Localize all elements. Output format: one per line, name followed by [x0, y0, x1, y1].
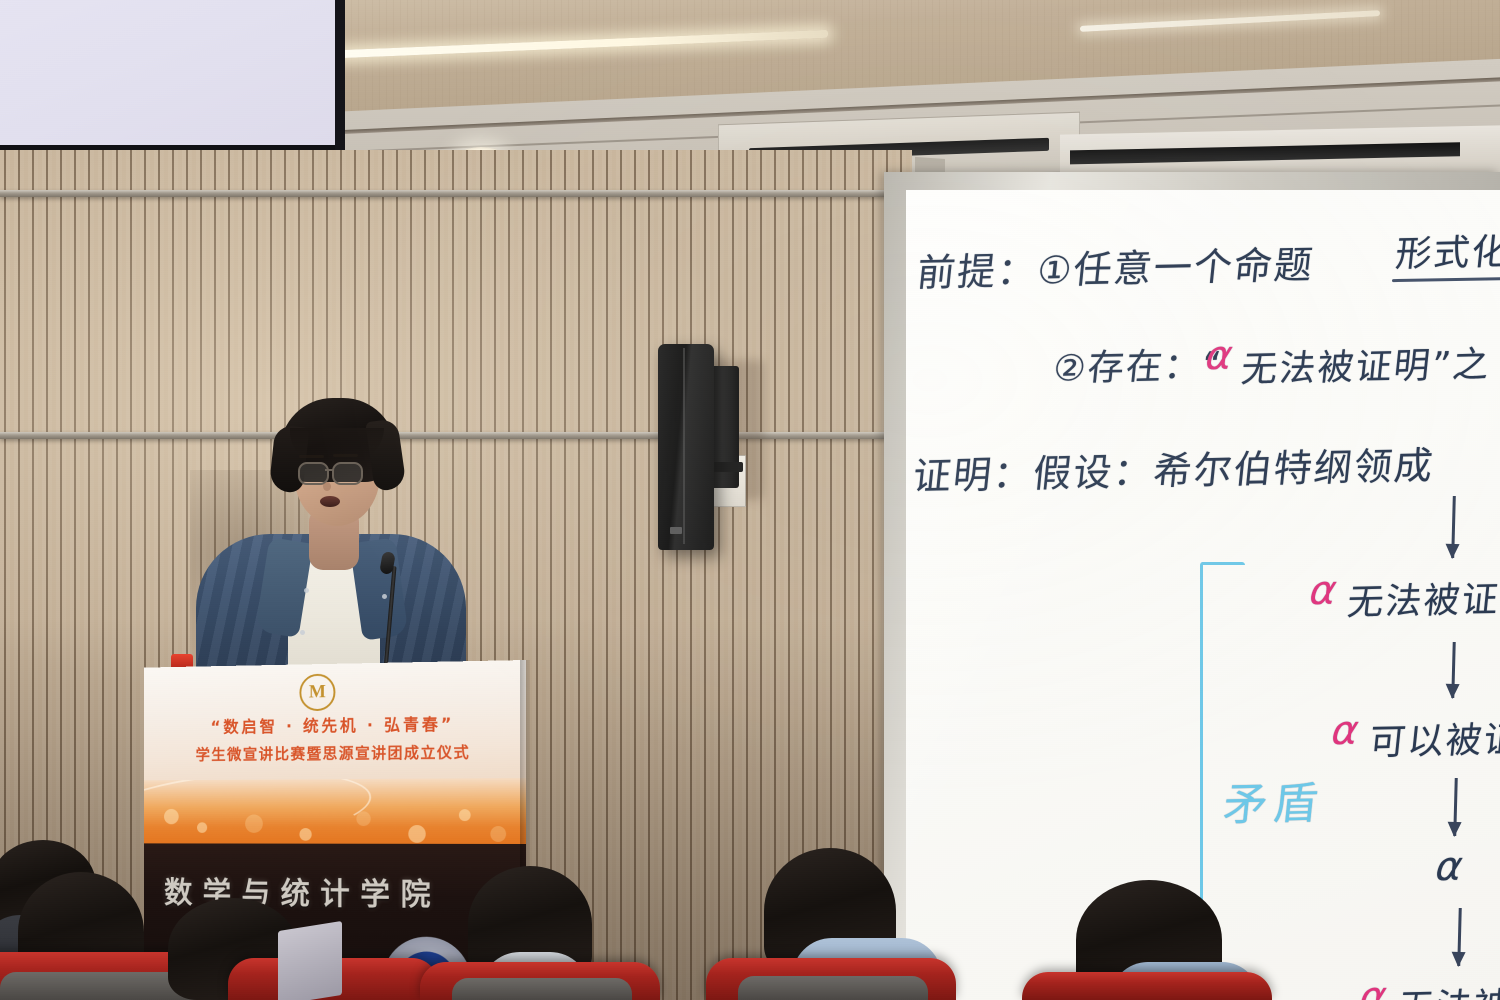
bracket-arm — [709, 462, 743, 472]
wall-trim-rail-upper — [0, 190, 912, 197]
wb-line-can-be-proved: 可以被证 — [1367, 710, 1500, 765]
presenter — [196, 398, 466, 688]
wb-alpha-1: α — [1204, 333, 1235, 380]
glasses-bridge-icon — [325, 469, 334, 471]
shirt-button — [300, 630, 305, 635]
wb-alpha-4: α — [1434, 844, 1465, 891]
wb-arrow-4-icon — [1457, 908, 1462, 966]
podium-banner-top: M “数启智 · 统先机 · 弘青春” 学生微宣讲比赛暨思源宣讲团成立仪式 — [144, 660, 526, 782]
wall-display-screen[interactable] — [0, 0, 345, 158]
wb-line-not-provable: 无法被证 — [1345, 570, 1500, 625]
wb-line-premise: 前提：①任意一个命题 — [915, 234, 1318, 297]
shirt-button — [304, 588, 309, 593]
speaker-brand-logo — [670, 527, 682, 534]
lecture-hall-photo: 前提：①任意一个命题 形式化 ②存在：“ α 无法被证明”之 证明：假设：希尔伯… — [0, 0, 1500, 1000]
wb-underline — [1392, 277, 1500, 282]
shirt-button — [382, 594, 387, 599]
podium-emblem-icon: M — [299, 674, 335, 712]
display-panel — [0, 0, 336, 146]
presenter-brow-right — [333, 454, 358, 457]
laptop-screen[interactable] — [278, 921, 342, 1000]
speaker-seam — [683, 348, 685, 544]
wb-line-exists: ②存在：“ — [1051, 336, 1226, 392]
banner-swoosh — [280, 778, 526, 846]
wb-contradiction-label: 矛盾 — [1221, 767, 1328, 833]
wb-alpha-3: α — [1330, 708, 1361, 755]
wb-alpha-5: α — [1358, 974, 1389, 1000]
wb-arrow-2-icon — [1451, 642, 1455, 698]
podium-banner-gradient — [144, 778, 526, 846]
display-bezel-right — [335, 0, 345, 158]
wall-speaker-icon — [658, 344, 714, 550]
hvac-slot-secondary — [1070, 142, 1460, 164]
wb-line-unprovable: 无法被证明”之 — [1239, 335, 1494, 392]
glasses-lens-right-icon — [332, 462, 363, 485]
wb-arrow-3-icon — [1453, 778, 1458, 836]
wb-line-formalization: 形式化 — [1393, 223, 1500, 277]
presenter-nose — [323, 482, 331, 491]
whiteboard-frame: 前提：①任意一个命题 形式化 ②存在：“ α 无法被证明”之 证明：假设：希尔伯… — [884, 172, 1500, 1000]
podium-slogan: “数启智 · 统先机 · 弘青春” — [144, 710, 526, 738]
seat-cushion — [738, 976, 928, 1000]
presenter-brow-left — [299, 455, 324, 458]
presenter-mouth — [320, 496, 340, 507]
whiteboard-surface[interactable]: 前提：①任意一个命题 形式化 ②存在：“ α 无法被证明”之 证明：假设：希尔伯… — [906, 190, 1500, 1000]
whiteboard-handwriting: 前提：①任意一个命题 形式化 ②存在：“ α 无法被证明”之 证明：假设：希尔伯… — [906, 190, 1500, 1000]
wb-line-unprovable-2: 无法被 — [1395, 977, 1500, 1000]
auditorium-seat[interactable] — [1022, 972, 1272, 1000]
seat-cushion — [452, 978, 632, 1000]
wb-line-proof: 证明：假设：希尔伯特纲领成 — [911, 435, 1438, 501]
podium-event-title: 学生微宣讲比赛暨思源宣讲团成立仪式 — [144, 740, 526, 765]
wb-alpha-2: α — [1308, 568, 1339, 615]
wb-arrow-1-icon — [1451, 496, 1456, 558]
